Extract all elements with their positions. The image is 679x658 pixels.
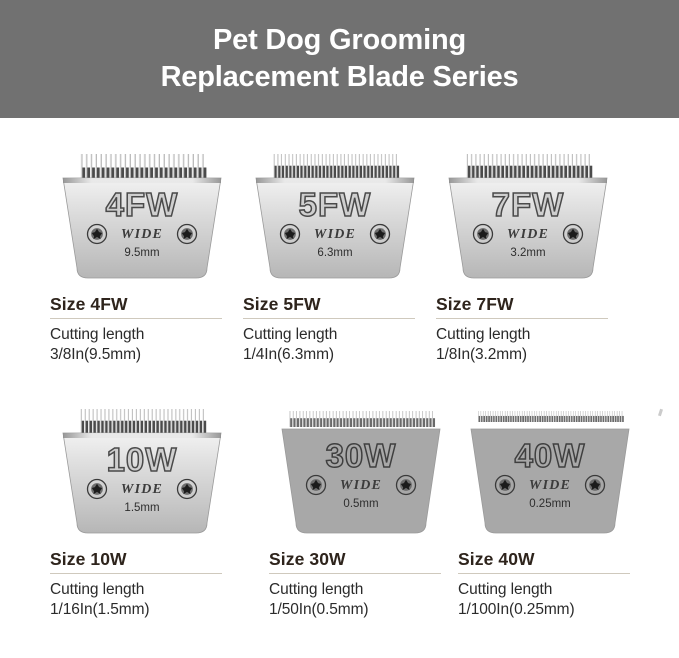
engraved-size: 5FW [299, 186, 372, 223]
engraved-size: 30W [326, 437, 397, 474]
engraved-size: 7FW [492, 186, 565, 223]
blade-image-7fw: 7FW WIDE 3.2mm [430, 148, 626, 288]
engraved-size: 40W [515, 437, 586, 474]
product-card-5fw[interactable]: 5FW WIDE 6.3mm Size 5FW Cutting length 1… [237, 148, 433, 403]
caption-40w: Size 40W Cutting length 1/100In(0.25mm) [458, 549, 648, 621]
cutting-length-label: Cutting length [436, 325, 626, 345]
caption-body: Cutting length 1/4In(6.3mm) [243, 325, 433, 366]
caption-title: Size 30W [269, 549, 459, 570]
caption-divider [50, 573, 222, 574]
cutting-length-label: Cutting length [269, 580, 459, 600]
engraved-wide: WIDE [121, 227, 163, 242]
cutting-length-value: 1/16In(1.5mm) [50, 600, 240, 620]
caption-title: Size 40W [458, 549, 648, 570]
caption-title: Size 4FW [50, 294, 240, 315]
blade-svg: 30W WIDE 0.5mm [272, 403, 450, 539]
caption-body: Cutting length 1/50In(0.5mm) [269, 580, 459, 621]
engraved-size: 4FW [106, 186, 179, 223]
cutting-length-label: Cutting length [458, 580, 648, 600]
caption-divider [243, 318, 415, 319]
blade-image-40w: 40W WIDE 0.25mm [452, 403, 648, 543]
caption-body: Cutting length 1/8In(3.2mm) [436, 325, 626, 366]
blade-teeth [80, 409, 206, 435]
product-card-4fw[interactable]: 4FW WIDE 9.5mm Size 4FW Cutting length 3… [44, 148, 240, 403]
page-header: Pet Dog Grooming Replacement Blade Serie… [0, 0, 679, 118]
engraved-measurement: 6.3mm [317, 247, 352, 259]
blade-svg: 7FW WIDE 3.2mm [439, 148, 617, 284]
caption-5fw: Size 5FW Cutting length 1/4In(6.3mm) [243, 294, 433, 366]
caption-30w: Size 30W Cutting length 1/50In(0.5mm) [269, 549, 459, 621]
caption-body: Cutting length 1/16In(1.5mm) [50, 580, 240, 621]
caption-10w: Size 10W Cutting length 1/16In(1.5mm) [50, 549, 240, 621]
caption-body: Cutting length 1/100In(0.25mm) [458, 580, 648, 621]
caption-divider [458, 573, 630, 574]
caption-divider [269, 573, 441, 574]
blade-teeth [466, 154, 592, 180]
cutting-length-value: 1/8In(3.2mm) [436, 345, 626, 365]
engraved-wide: WIDE [529, 478, 571, 493]
cutting-length-label: Cutting length [243, 325, 433, 345]
blade-image-5fw: 5FW WIDE 6.3mm [237, 148, 433, 288]
product-row-bottom: 10W WIDE 1.5mm Size 10W Cutting length 1… [0, 403, 679, 658]
engraved-measurement: 0.25mm [529, 498, 571, 510]
engraved-wide: WIDE [340, 478, 382, 493]
blade-teeth [289, 411, 435, 427]
product-card-40w[interactable]: 40W WIDE 0.25mm Size 40W Cutting length … [452, 403, 648, 658]
caption-body: Cutting length 3/8In(9.5mm) [50, 325, 240, 366]
blade-teeth [273, 154, 399, 180]
engraved-size: 10W [107, 441, 178, 478]
blade-svg: 10W WIDE 1.5mm [53, 403, 231, 539]
blade-svg: 40W WIDE 0.25mm [461, 403, 639, 539]
caption-divider [50, 318, 222, 319]
engraved-wide: WIDE [121, 482, 163, 497]
product-grid: 4FW WIDE 9.5mm Size 4FW Cutting length 3… [0, 118, 679, 637]
page-title-line-2: Replacement Blade Series [161, 60, 519, 95]
cutting-length-value: 3/8In(9.5mm) [50, 345, 240, 365]
cutting-length-value: 1/50In(0.5mm) [269, 600, 459, 620]
engraved-measurement: 0.5mm [343, 498, 378, 510]
caption-title: Size 5FW [243, 294, 433, 315]
product-card-30w[interactable]: 30W WIDE 0.5mm Size 30W Cutting length 1… [263, 403, 459, 658]
blade-image-30w: 30W WIDE 0.5mm [263, 403, 459, 543]
blade-teeth [478, 411, 624, 422]
engraved-wide: WIDE [314, 227, 356, 242]
product-card-7fw[interactable]: 7FW WIDE 3.2mm Size 7FW Cutting length 1… [430, 148, 626, 403]
blade-svg: 4FW WIDE 9.5mm [53, 148, 231, 284]
cutting-length-value: 1/4In(6.3mm) [243, 345, 433, 365]
cutting-length-value: 1/100In(0.25mm) [458, 600, 648, 620]
blade-image-4fw: 4FW WIDE 9.5mm [44, 148, 240, 288]
page-title-line-1: Pet Dog Grooming [213, 23, 466, 58]
product-card-10w[interactable]: 10W WIDE 1.5mm Size 10W Cutting length 1… [44, 403, 240, 658]
blade-svg: 5FW WIDE 6.3mm [246, 148, 424, 284]
caption-7fw: Size 7FW Cutting length 1/8In(3.2mm) [436, 294, 626, 366]
cutting-length-label: Cutting length [50, 580, 240, 600]
engraved-measurement: 1.5mm [124, 502, 159, 514]
engraved-measurement: 3.2mm [510, 247, 545, 259]
cutting-length-label: Cutting length [50, 325, 240, 345]
caption-title: Size 10W [50, 549, 240, 570]
caption-4fw: Size 4FW Cutting length 3/8In(9.5mm) [50, 294, 240, 366]
engraved-wide: WIDE [507, 227, 549, 242]
engraved-measurement: 9.5mm [124, 247, 159, 259]
caption-divider [436, 318, 608, 319]
blade-image-10w: 10W WIDE 1.5mm [44, 403, 240, 543]
caption-title: Size 7FW [436, 294, 626, 315]
product-row-top: 4FW WIDE 9.5mm Size 4FW Cutting length 3… [0, 148, 679, 403]
